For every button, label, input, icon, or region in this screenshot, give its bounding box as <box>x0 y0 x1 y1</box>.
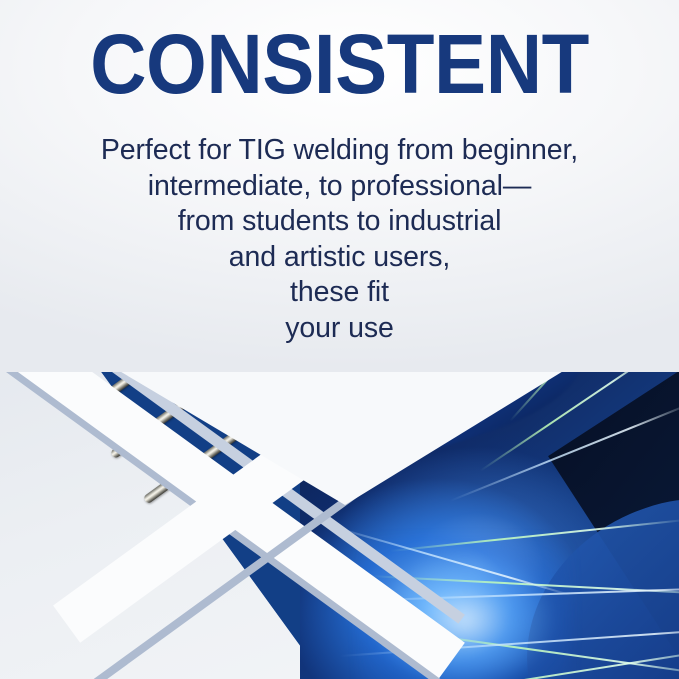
page-title: CONSISTENT <box>24 22 655 106</box>
description-text: Perfect for TIG welding from beginner, i… <box>0 133 679 346</box>
headline-panel: CONSISTENT Perfect for TIG welding from … <box>0 0 679 372</box>
description-line: and artistic users, <box>0 240 679 276</box>
description-line: from students to industrial <box>0 204 679 240</box>
product-feature-poster: CONSISTENT Perfect for TIG welding from … <box>0 0 679 679</box>
description-line: your use <box>0 311 679 347</box>
description-line: these fit <box>0 275 679 311</box>
description-line: intermediate, to professional— <box>0 169 679 205</box>
description-line: Perfect for TIG welding from beginner, <box>0 133 679 169</box>
